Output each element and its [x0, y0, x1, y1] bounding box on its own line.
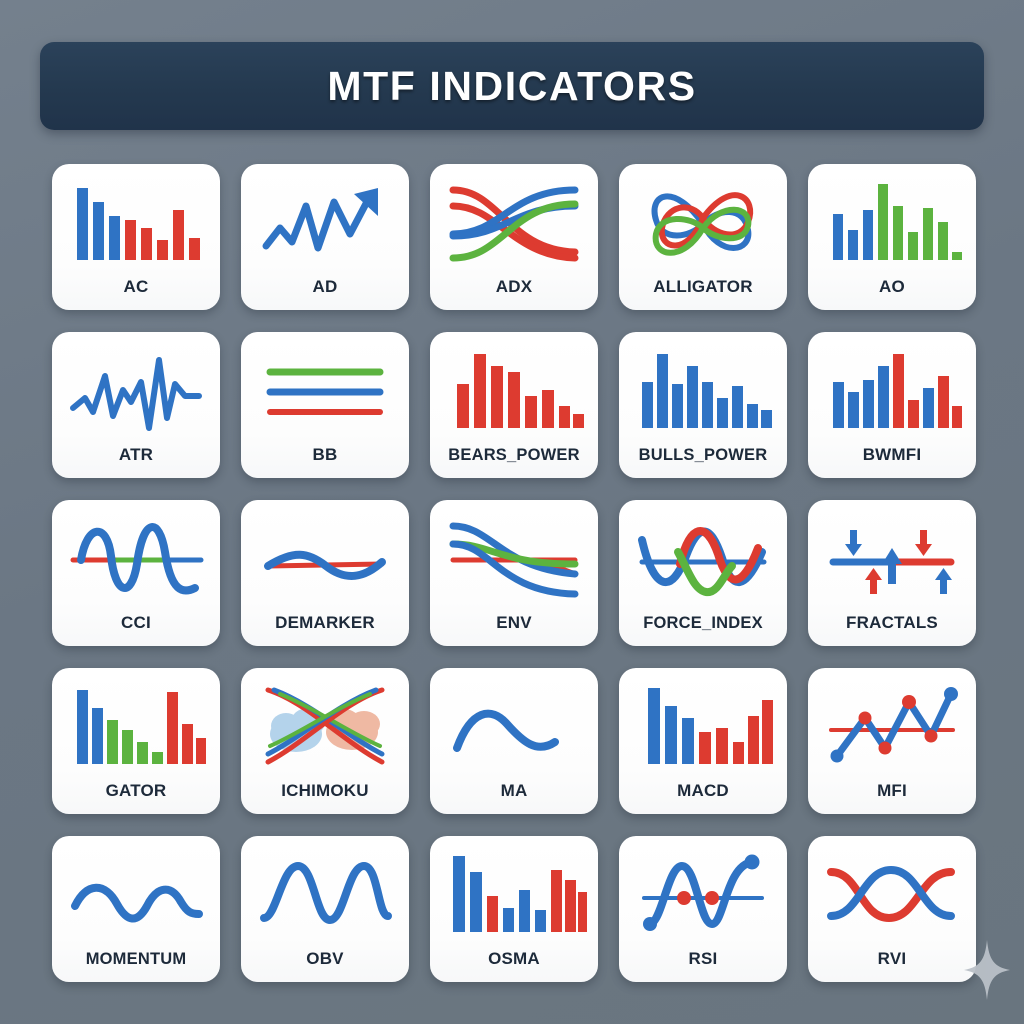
tile-label: RVI — [878, 949, 907, 969]
indicator-tile-rvi[interactable]: RVI — [808, 836, 976, 982]
indicator-tile-bears-power[interactable]: BEARS_POWER — [430, 332, 598, 478]
indicator-tile-fractals[interactable]: FRACTALS — [808, 500, 976, 646]
indicator-tile-force-index[interactable]: FORCE_INDEX — [619, 500, 787, 646]
tile-label: ALLIGATOR — [653, 277, 752, 297]
flat-sine-wave-icon — [250, 508, 400, 608]
descending-envelope-icon — [439, 508, 589, 608]
indicator-tile-momentum[interactable]: MOMENTUM — [52, 836, 220, 982]
indicator-tile-ma[interactable]: MA — [430, 668, 598, 814]
tile-label: MFI — [877, 781, 907, 801]
cloud-cross-icon — [250, 676, 400, 776]
zigzag-arrow-up-icon — [250, 172, 400, 272]
histogram-blue-red-icon — [61, 172, 211, 272]
interweaving-waves-icon — [817, 844, 967, 944]
tile-label: BB — [313, 445, 338, 465]
indicator-tile-rsi[interactable]: RSI — [619, 836, 787, 982]
indicator-tile-alligator[interactable]: ALLIGATOR — [619, 164, 787, 310]
indicator-tile-macd[interactable]: MACD — [619, 668, 787, 814]
histogram-blue-icon — [628, 340, 778, 440]
tile-label: ICHIMOKU — [281, 781, 369, 801]
histogram-blue-green-icon — [817, 172, 967, 272]
tile-label: ATR — [119, 445, 153, 465]
tile-label: AC — [124, 277, 149, 297]
gentle-wave-icon — [61, 844, 211, 944]
tile-label: AD — [313, 277, 338, 297]
tile-label: MA — [501, 781, 528, 801]
tile-label: OSMA — [488, 949, 540, 969]
indicator-tile-cci[interactable]: CCI — [52, 500, 220, 646]
indicator-tile-ichimoku[interactable]: ICHIMOKU — [241, 668, 409, 814]
tile-label: DEMARKER — [275, 613, 375, 633]
double-hump-wave-icon — [250, 844, 400, 944]
tile-label: MACD — [677, 781, 729, 801]
indicator-grid: AC AD ADX — [52, 164, 977, 982]
tile-label: BEARS_POWER — [448, 446, 579, 465]
indicator-tile-bulls-power[interactable]: BULLS_POWER — [619, 332, 787, 478]
histogram-osma-icon — [439, 844, 589, 944]
app-root: MTF INDICATORS AC AD — [0, 0, 1024, 1024]
three-bands-icon — [250, 340, 400, 440]
indicator-tile-gator[interactable]: GATOR — [52, 668, 220, 814]
tile-label: BULLS_POWER — [639, 446, 768, 465]
volatility-spike-line-icon — [61, 340, 211, 440]
tile-label: AO — [879, 277, 905, 297]
page-title: MTF INDICATORS — [327, 63, 696, 110]
page-header: MTF INDICATORS — [40, 42, 984, 130]
indicator-tile-bb[interactable]: BB — [241, 332, 409, 478]
indicator-tile-osma[interactable]: OSMA — [430, 836, 598, 982]
tile-label: ENV — [496, 613, 532, 633]
s-curve-dots-icon — [628, 844, 778, 944]
crossing-curves-icon — [439, 172, 589, 272]
indicator-tile-adx[interactable]: ADX — [430, 164, 598, 310]
indicator-tile-mfi[interactable]: MFI — [808, 668, 976, 814]
indicator-tile-ad[interactable]: AD — [241, 164, 409, 310]
histogram-red-icon — [439, 340, 589, 440]
tile-label: GATOR — [106, 781, 167, 801]
tile-label: CCI — [121, 613, 151, 633]
indicator-tile-atr[interactable]: ATR — [52, 332, 220, 478]
histogram-blue-red-tall-icon — [628, 676, 778, 776]
tile-label: OBV — [306, 949, 343, 969]
tile-label: ADX — [496, 277, 533, 297]
tile-label: BWMFI — [863, 445, 922, 465]
oscillating-wave-icon — [61, 508, 211, 608]
up-down-arrows-icon — [817, 508, 967, 608]
infinity-loops-icon — [628, 172, 778, 272]
smooth-curve-icon — [439, 676, 589, 776]
indicator-tile-bwmfi[interactable]: BWMFI — [808, 332, 976, 478]
indicator-tile-env[interactable]: ENV — [430, 500, 598, 646]
indicator-tile-ao[interactable]: AO — [808, 164, 976, 310]
tri-color-wave-icon — [628, 508, 778, 608]
dotted-zigzag-icon — [817, 676, 967, 776]
indicator-tile-obv[interactable]: OBV — [241, 836, 409, 982]
tile-label: FRACTALS — [846, 613, 938, 633]
indicator-tile-ac[interactable]: AC — [52, 164, 220, 310]
tile-label: MOMENTUM — [86, 950, 187, 969]
tile-label: RSI — [689, 949, 718, 969]
indicator-tile-demarker[interactable]: DEMARKER — [241, 500, 409, 646]
histogram-tri-color-icon — [61, 676, 211, 776]
tile-label: FORCE_INDEX — [643, 614, 763, 633]
histogram-mixed-icon — [817, 340, 967, 440]
